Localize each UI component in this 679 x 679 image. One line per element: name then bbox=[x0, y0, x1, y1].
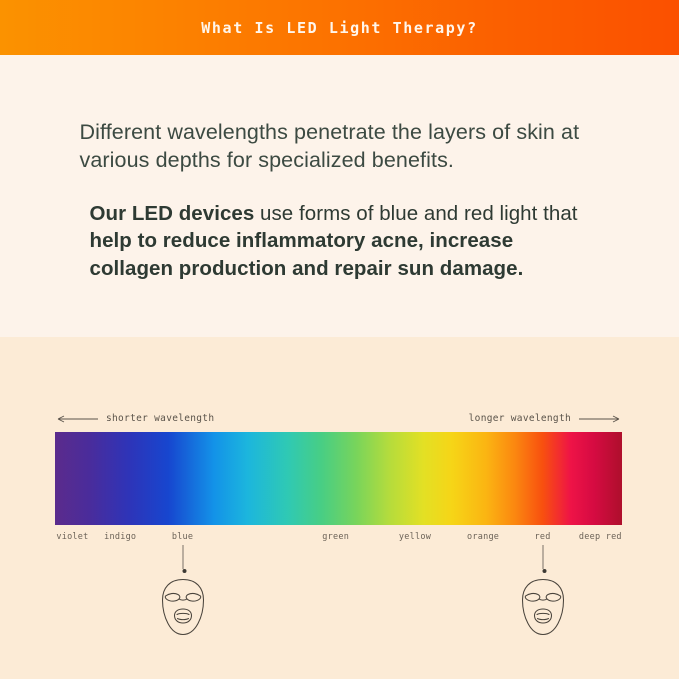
shorter-wavelength-label: shorter wavelength bbox=[106, 413, 214, 424]
intro-panel: Different wavelengths penetrate the laye… bbox=[0, 55, 679, 337]
stem-line bbox=[542, 545, 543, 569]
shorter-wavelength-caption: shorter wavelength bbox=[55, 413, 214, 424]
spectrum-tick-label-yellow: yellow bbox=[399, 532, 431, 542]
connector-stem-red bbox=[542, 545, 543, 573]
spectrum-tick-label-violet: violet bbox=[56, 532, 88, 542]
spectrum-tick-label-indigo: indigo bbox=[104, 532, 136, 542]
page-title: What Is LED Light Therapy? bbox=[201, 19, 477, 37]
lede-paragraph: Different wavelengths penetrate the laye… bbox=[80, 118, 600, 175]
connector-stem-blue bbox=[182, 545, 183, 573]
stem-dot bbox=[182, 569, 186, 573]
arrow-right-icon bbox=[578, 415, 622, 423]
spectrum-panel: shorter wavelength longer wavelength vio… bbox=[0, 337, 679, 679]
spectrum-tick-label-red: red bbox=[535, 532, 551, 542]
spectrum-tick-label-green: green bbox=[322, 532, 349, 542]
subcopy-paragraph: Our LED devices use forms of blue and re… bbox=[90, 200, 590, 282]
visible-light-spectrum-bar bbox=[55, 432, 622, 525]
spectrum-tick-label-deep-red: deep red bbox=[579, 532, 622, 542]
arrow-left-icon bbox=[55, 415, 99, 423]
spectrum-tick-row: violetindigobluegreenyelloworangereddeep… bbox=[0, 532, 679, 548]
subcopy-bold-tail: help to reduce inflammatory acne, increa… bbox=[90, 229, 524, 279]
longer-wavelength-label: longer wavelength bbox=[469, 413, 571, 424]
page-header: What Is LED Light Therapy? bbox=[0, 0, 679, 55]
longer-wavelength-caption: longer wavelength bbox=[469, 413, 622, 424]
stem-dot bbox=[542, 569, 546, 573]
spectrum-tick-label-blue: blue bbox=[172, 532, 193, 542]
led-face-mask-icon-red bbox=[516, 575, 570, 642]
subcopy-bold-lead: Our LED devices bbox=[90, 202, 255, 225]
spectrum-tick-label-orange: orange bbox=[467, 532, 499, 542]
subcopy-regular: use forms of blue and red light that bbox=[254, 202, 577, 225]
stem-line bbox=[182, 545, 183, 569]
led-face-mask-icon-blue bbox=[156, 575, 210, 642]
axis-caption-row: shorter wavelength longer wavelength bbox=[55, 413, 622, 433]
